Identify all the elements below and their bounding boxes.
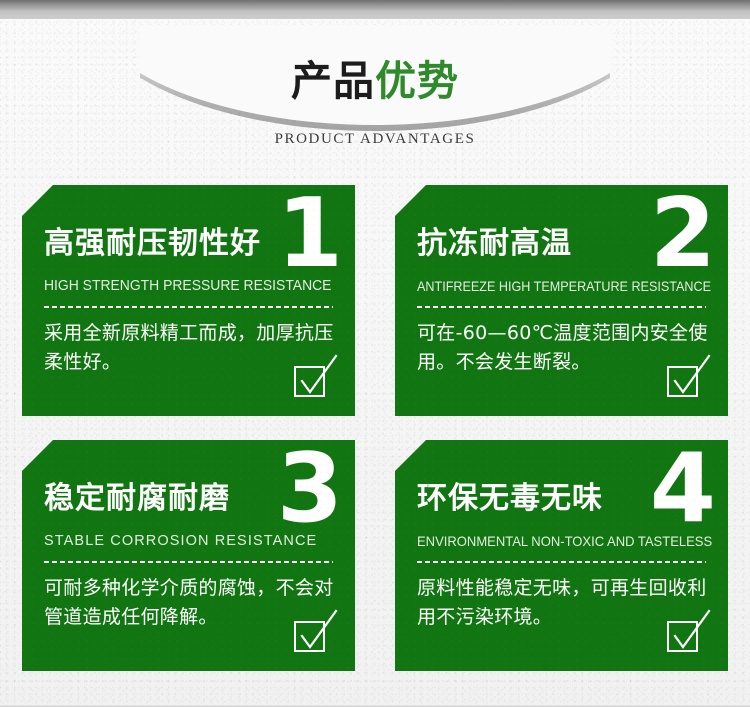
card-subtitle: STABLE CORROSION RESISTANCE [44,534,317,549]
card-heading: 稳定耐腐耐磨 [44,484,230,514]
advantage-card-grid: 1 高强耐压韧性好 HIGH STRENGTH PRESSURE RESISTA… [22,185,728,671]
advantage-card[interactable]: 1 高强耐压韧性好 HIGH STRENGTH PRESSURE RESISTA… [22,185,355,416]
advantage-card[interactable]: 2 抗冻耐高温 ANTIFREEZE HIGH TEMPERATURE RESI… [395,185,728,416]
card-subtitle: HIGH STRENGTH PRESSURE RESISTANCE [44,279,331,294]
card-number: 4 [650,446,714,533]
card-number: 3 [277,446,341,533]
page-title-green-part: 优势 [375,57,459,105]
page-subtitle: PRODUCT ADVANTAGES [0,131,750,148]
card-number: 2 [650,191,714,278]
card-divider [44,306,333,308]
card-heading: 高强耐压韧性好 [44,229,261,259]
page-title-dark-part: 产品 [291,57,375,105]
advantage-card[interactable]: 4 环保无毒无味 ENVIRONMENTAL NON-TOXIC AND TAS… [395,440,728,671]
advantage-card[interactable]: 3 稳定耐腐耐磨 STABLE CORROSION RESISTANCE 可耐多… [22,440,355,671]
card-heading: 环保无毒无味 [417,484,603,514]
card-description: 原料性能稳定无味，可再生回收利用不污染环境。 [417,574,709,633]
top-gradient-band [0,0,750,19]
card-description: 可在-60—60℃温度范围内安全使用。不会发生断裂。 [417,319,709,378]
card-divider [417,306,706,308]
card-divider [417,561,706,563]
card-description: 采用全新原料精工而成，加厚抗压柔性好。 [44,319,336,378]
card-subtitle: ANTIFREEZE HIGH TEMPERATURE RESISTANCE [417,279,711,293]
card-subtitle: ENVIRONMENTAL NON-TOXIC AND TASTELESS [417,534,712,548]
card-heading: 抗冻耐高温 [417,229,572,259]
card-description: 可耐多种化学介质的腐蚀，不会对管道造成任何降解。 [44,574,336,633]
card-number: 1 [277,191,341,278]
page-header: 产品优势 PRODUCT ADVANTAGES [0,19,750,169]
card-divider [44,561,333,563]
page-title: 产品优势 [0,61,750,102]
